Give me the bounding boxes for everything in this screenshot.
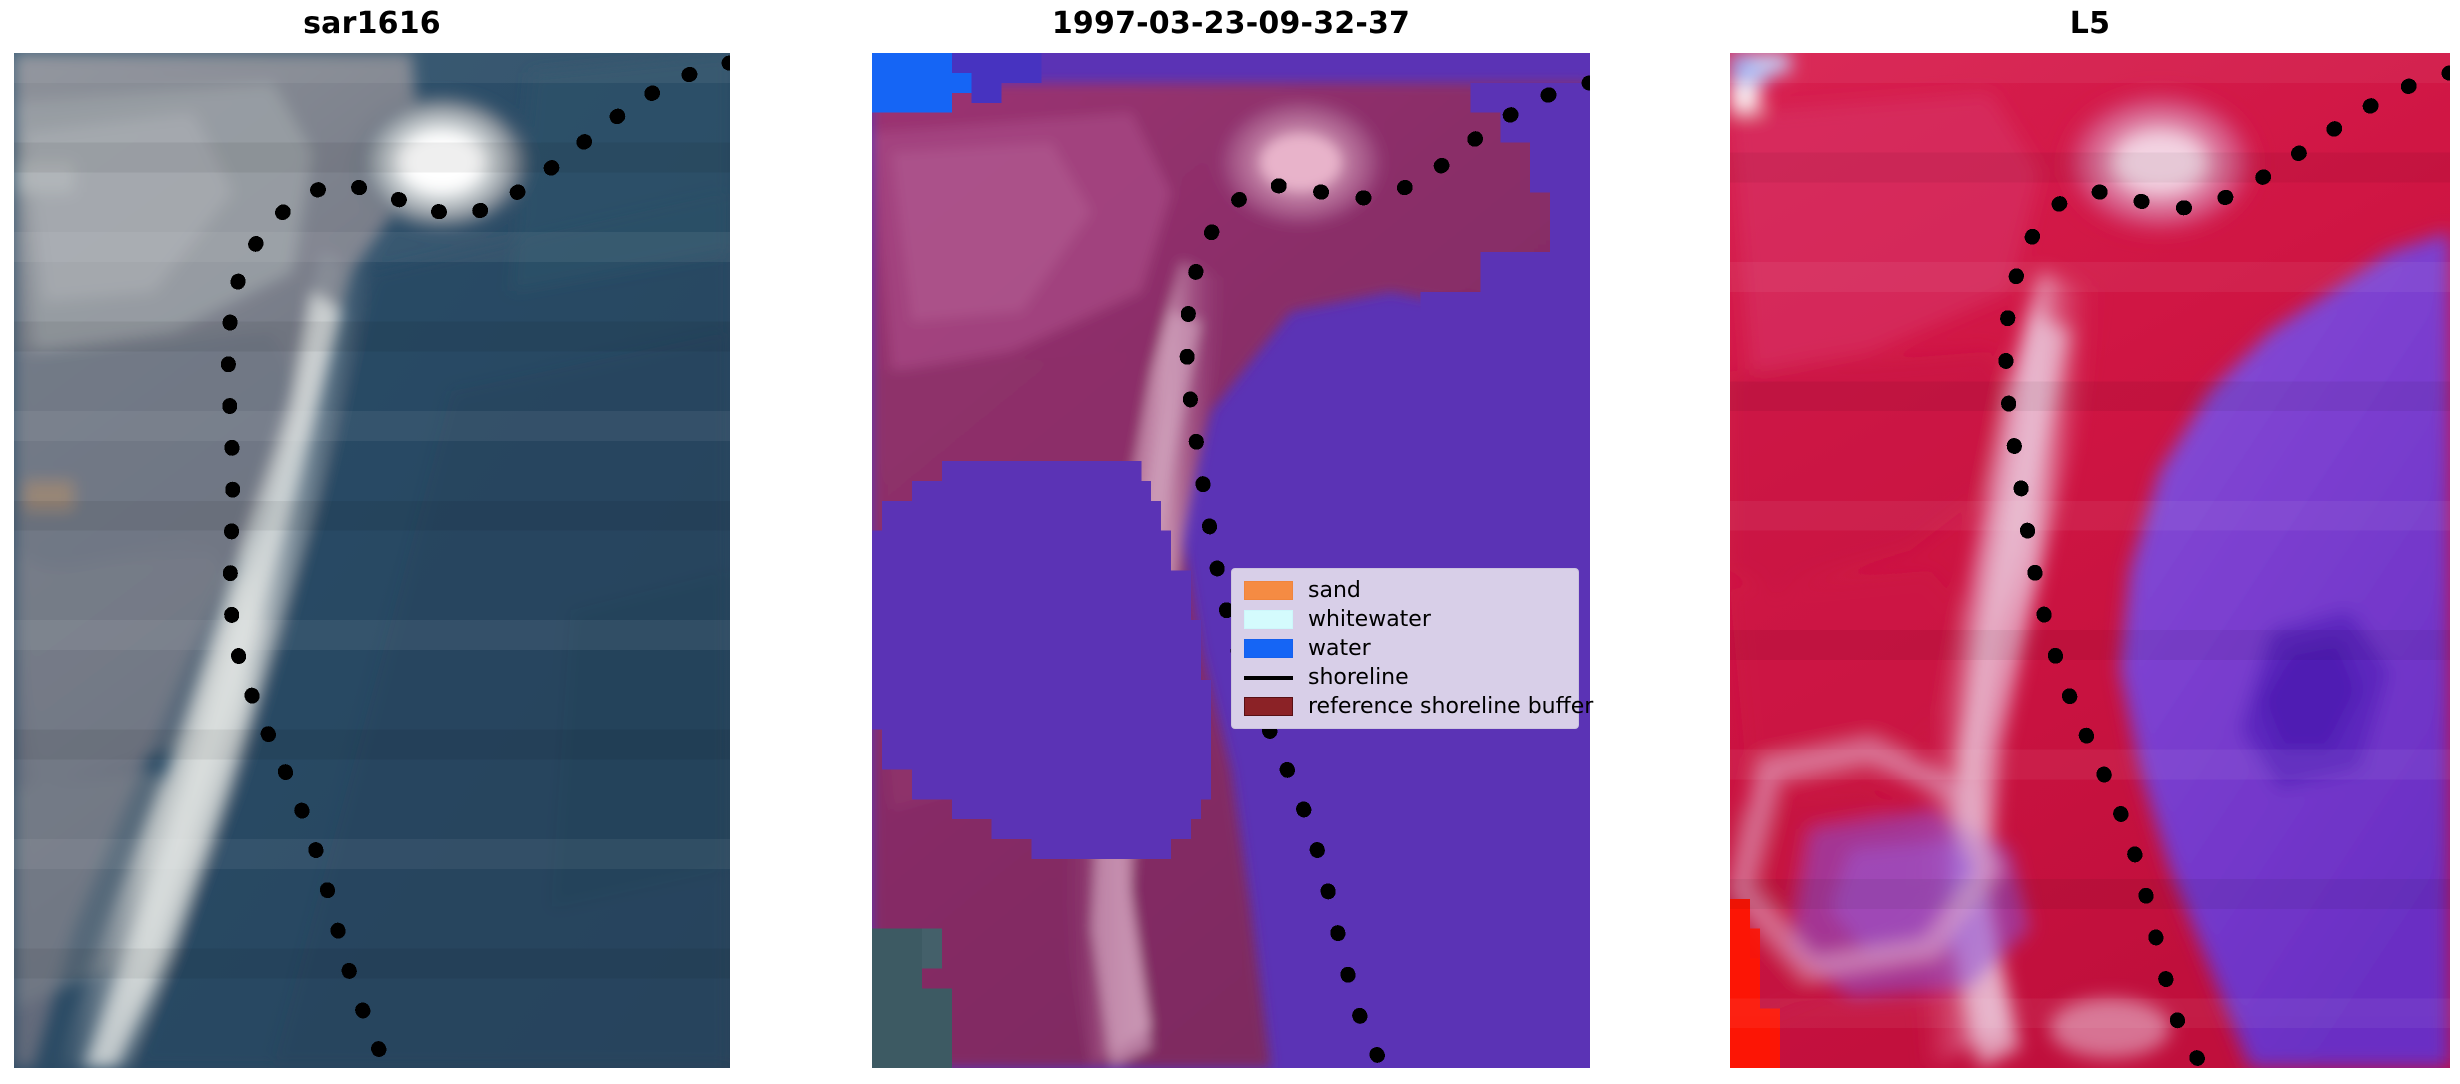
sand-color-swatch — [1244, 581, 1293, 600]
landsat5-panel[interactable] — [1730, 53, 2450, 1068]
panel-title-sar: sar1616 — [14, 3, 730, 45]
whitewater-color-swatch — [1244, 610, 1293, 629]
legend-label-shoreline: shoreline — [1295, 663, 1409, 692]
buffer-swatch-box — [1241, 692, 1295, 721]
classification-overlay-panel[interactable] — [872, 53, 1590, 1068]
water-color-swatch — [1244, 639, 1293, 658]
landsat5-raster — [1730, 53, 2450, 1068]
classification-raster — [872, 53, 1590, 1068]
sar-image-raster — [14, 53, 730, 1068]
shoreline-swatch-box — [1241, 663, 1295, 692]
legend-label-whitewater: whitewater — [1295, 605, 1431, 634]
legend-row-buffer[interactable]: reference shoreline buffer — [1241, 692, 1569, 721]
legend-label-sand: sand — [1295, 576, 1361, 605]
sand-swatch-box — [1241, 576, 1295, 605]
panel-title-satellite: L5 — [1730, 3, 2450, 45]
map-legend[interactable]: sand whitewater water shoreline referenc — [1231, 568, 1579, 729]
water-class-blob — [872, 461, 1211, 859]
legend-row-whitewater[interactable]: whitewater — [1241, 605, 1569, 634]
legend-row-sand[interactable]: sand — [1241, 576, 1569, 605]
panel-title-date: 1997-03-23-09-32-37 — [872, 3, 1590, 45]
buffer-color-swatch — [1244, 697, 1293, 716]
legend-row-water[interactable]: water — [1241, 634, 1569, 663]
slate-corner — [872, 929, 952, 1068]
legend-label-water: water — [1295, 634, 1371, 663]
legend-row-shoreline[interactable]: shoreline — [1241, 663, 1569, 692]
shoreline-line-swatch — [1244, 676, 1293, 680]
figure-canvas: sar1616 1997-03-23-09-32-37 L5 — [0, 0, 2460, 1084]
whitewater-swatch-box — [1241, 605, 1295, 634]
water-swatch-box — [1241, 634, 1295, 663]
legend-label-buffer: reference shoreline buffer — [1295, 692, 1593, 721]
sar-image-panel[interactable] — [14, 53, 730, 1068]
